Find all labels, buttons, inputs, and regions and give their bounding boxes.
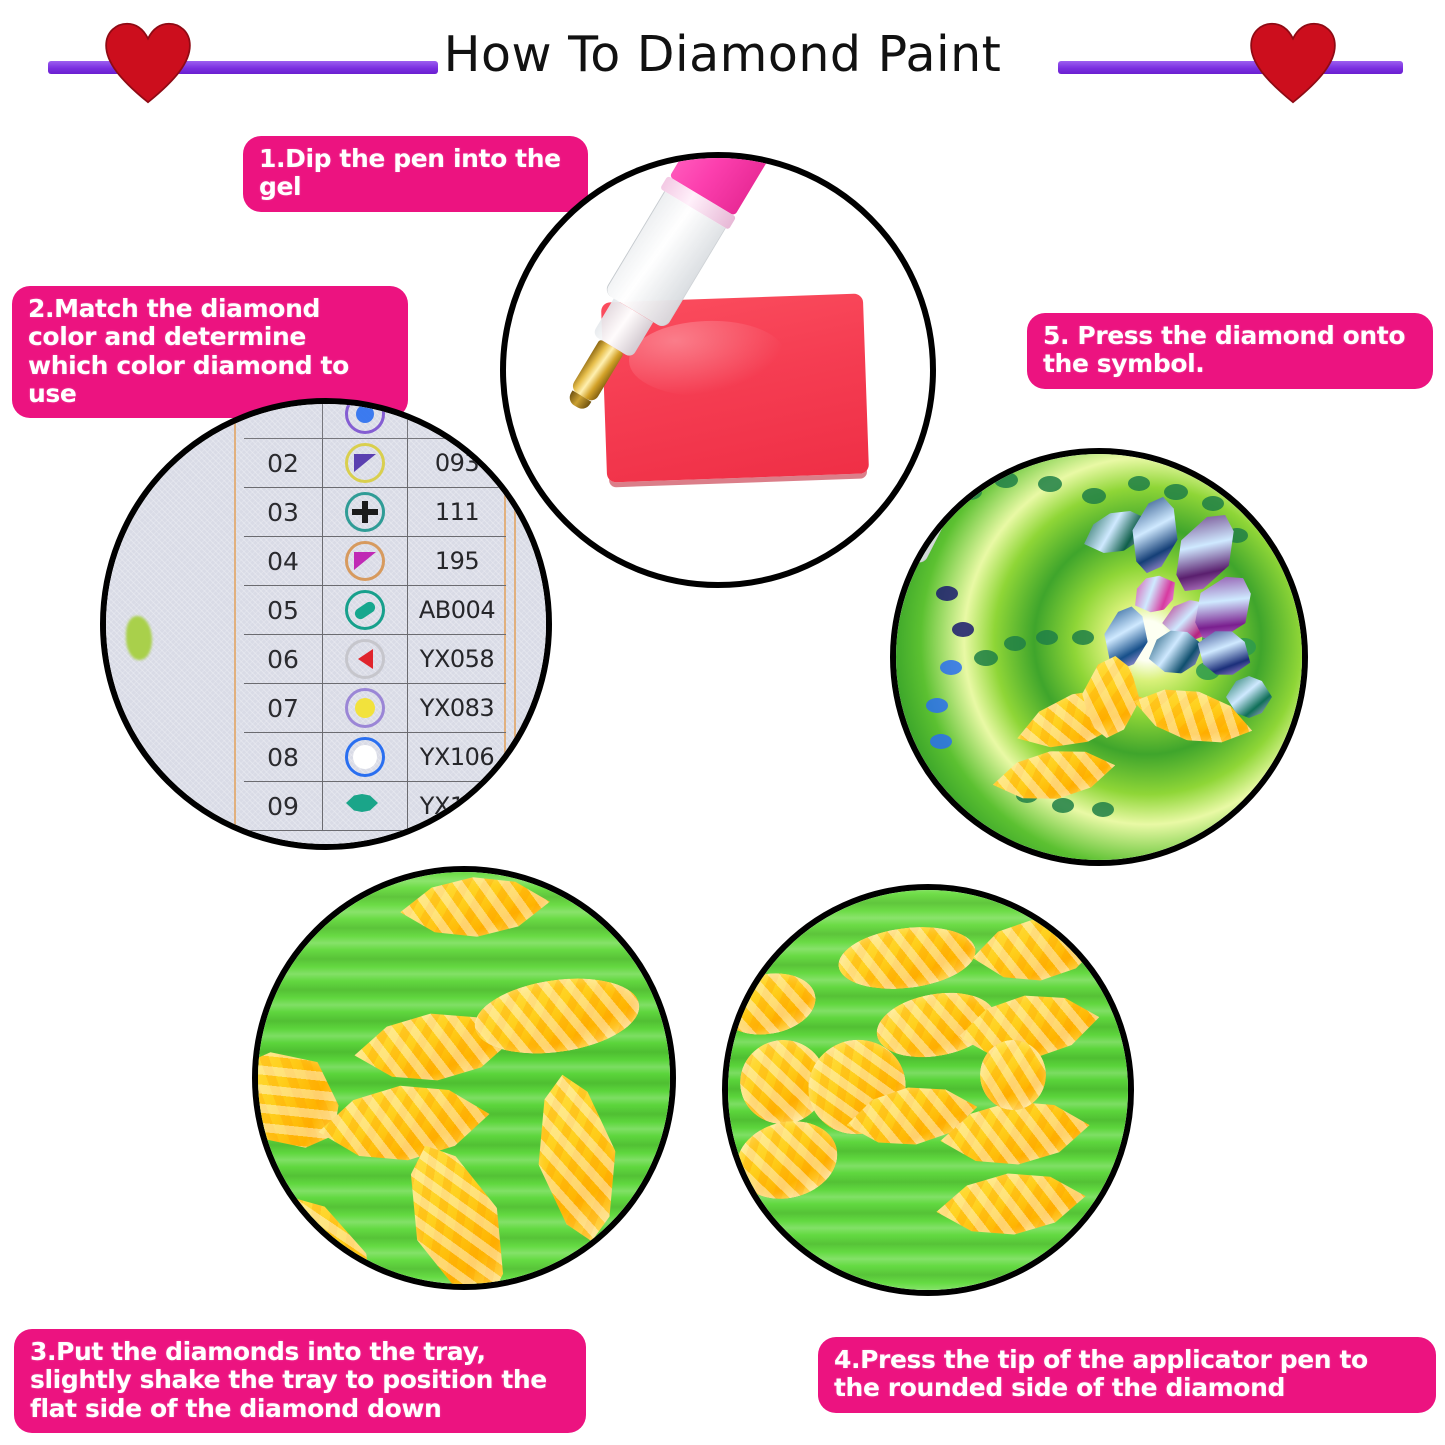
legend-row-symbol: [323, 733, 408, 781]
legend-row-number: [244, 398, 323, 438]
canvas-symbol-dot: [1004, 636, 1026, 651]
mandala-canvas: [896, 454, 1302, 860]
canvas-symbol-dot: [974, 650, 998, 666]
header: How To Diamond Paint: [0, 0, 1445, 120]
legend-row-number: 03: [244, 488, 323, 536]
legend-row-number: 09: [244, 782, 323, 830]
step-5-photo: [890, 448, 1308, 866]
symbol-glyph: [358, 649, 373, 669]
legend-row-number: 04: [244, 537, 323, 585]
step-5-label: 5. Press the diamond onto the symbol.: [1027, 313, 1433, 389]
legend-row-code: YX083: [408, 694, 506, 722]
canvas-symbol-dot: [940, 660, 962, 675]
symbol-glyph: [353, 745, 377, 769]
legend-row-code: 093: [408, 449, 506, 477]
symbol-black-cross: [345, 492, 385, 532]
symbol-red-chevron: [345, 639, 385, 679]
canvas-print-green: [126, 616, 152, 660]
legend-row-code: YX125: [408, 792, 506, 820]
canvas-symbol-dot: [936, 586, 958, 601]
legend-row-number: 07: [244, 684, 323, 732]
legend-row-number: 08: [244, 733, 323, 781]
step-4-photo: [722, 884, 1134, 1296]
legend-row-symbol: [323, 782, 408, 830]
infographic-canvas: How To Diamond Paint 1.Dip the pen into …: [0, 0, 1445, 1445]
canvas-symbol-teal: [128, 756, 154, 782]
yellow-diamond: [989, 741, 1119, 810]
canvas-symbol-dot: [994, 472, 1018, 488]
symbol-teal-capsule: [345, 590, 385, 630]
step-1-scene: [506, 158, 930, 582]
canvas-symbol-dot: [1052, 798, 1074, 813]
page-title: How To Diamond Paint: [0, 26, 1445, 83]
symbol-glyph: [353, 600, 377, 621]
canvas-symbol-dot: [1092, 802, 1114, 817]
canvas-symbol-dot: [1164, 484, 1188, 500]
legend-row-code: AB004: [408, 596, 506, 624]
legend-row: 08YX106: [244, 733, 506, 782]
legend-row: 028: [244, 398, 506, 439]
applicator-pen: [890, 448, 992, 661]
symbol-glyph: [356, 405, 374, 423]
symbol-glyph: [362, 501, 368, 523]
symbol-glyph: [352, 509, 378, 515]
legend-row: 02093: [244, 439, 506, 488]
legend-row-code: 111: [408, 498, 506, 526]
step-4-label: 4.Press the tip of the applicator pen to…: [818, 1337, 1436, 1413]
step-1-photo: [500, 152, 936, 588]
canvas-symbol-dot: [930, 734, 952, 749]
legend-row-code: 195: [408, 547, 506, 575]
symbol-magenta-triangle: [345, 541, 385, 581]
canvas-symbol-dot: [1202, 496, 1224, 511]
chart-margin-line: [234, 404, 236, 844]
legend-row-symbol: [323, 586, 408, 634]
symbol-blue-ring: [345, 737, 385, 777]
legend-row: 06YX058: [244, 635, 506, 684]
canvas-symbol-dot: [926, 698, 948, 713]
legend-row: 09YX125: [244, 782, 506, 831]
legend-row-code: 028: [408, 400, 506, 428]
legend-row-symbol: [323, 398, 408, 438]
legend-row-symbol: [323, 537, 408, 585]
symbol-purple-triangle: [345, 443, 385, 483]
legend-row-number: 05: [244, 586, 323, 634]
canvas-symbol-dot: [1072, 630, 1094, 645]
legend-row-symbol: [323, 684, 408, 732]
mandala-jewel: [1124, 492, 1185, 578]
legend-row: 04195: [244, 537, 506, 586]
symbol-teal-leaf-orange-outline: [345, 786, 385, 826]
canvas-symbol-dot: [1128, 476, 1150, 491]
symbol-glyph: [354, 454, 376, 472]
legend-row-number: 06: [244, 635, 323, 683]
legend-row-symbol: [323, 635, 408, 683]
legend-row: 03111: [244, 488, 506, 537]
canvas-symbol-dot: [1036, 630, 1058, 645]
legend-row-number: 02: [244, 439, 323, 487]
canvas-chart-paper: 02802093031110419505AB00406YX05807YX0830…: [106, 404, 546, 844]
legend-row-code: YX106: [408, 743, 506, 771]
symbol-glyph: [354, 552, 376, 570]
symbol-yellow-dot-purple-ring: [345, 688, 385, 728]
chart-margin-line: [514, 404, 516, 844]
symbol-glyph: [346, 794, 378, 812]
legend-row: 07YX083: [244, 684, 506, 733]
legend-row: 05AB004: [244, 586, 506, 635]
step-2-photo: 02802093031110419505AB00406YX05807YX0830…: [100, 398, 552, 850]
symbol-purple-circle-double-blue-dot: [345, 398, 385, 434]
step-3-photo: [252, 866, 676, 1290]
step-3-label: 3.Put the diamonds into the tray, slight…: [14, 1329, 586, 1433]
legend-row-code: YX058: [408, 645, 506, 673]
canvas-symbol-dot: [1038, 476, 1062, 492]
symbol-glyph: [355, 698, 375, 718]
legend-row-symbol: [323, 488, 408, 536]
legend-row-symbol: [323, 439, 408, 487]
canvas-symbol-dot: [1082, 488, 1106, 504]
symbol-legend-table: 02802093031110419505AB00406YX05807YX0830…: [244, 398, 506, 831]
yellow-diamond: [980, 1040, 1046, 1110]
canvas-symbol-dot: [952, 622, 974, 637]
